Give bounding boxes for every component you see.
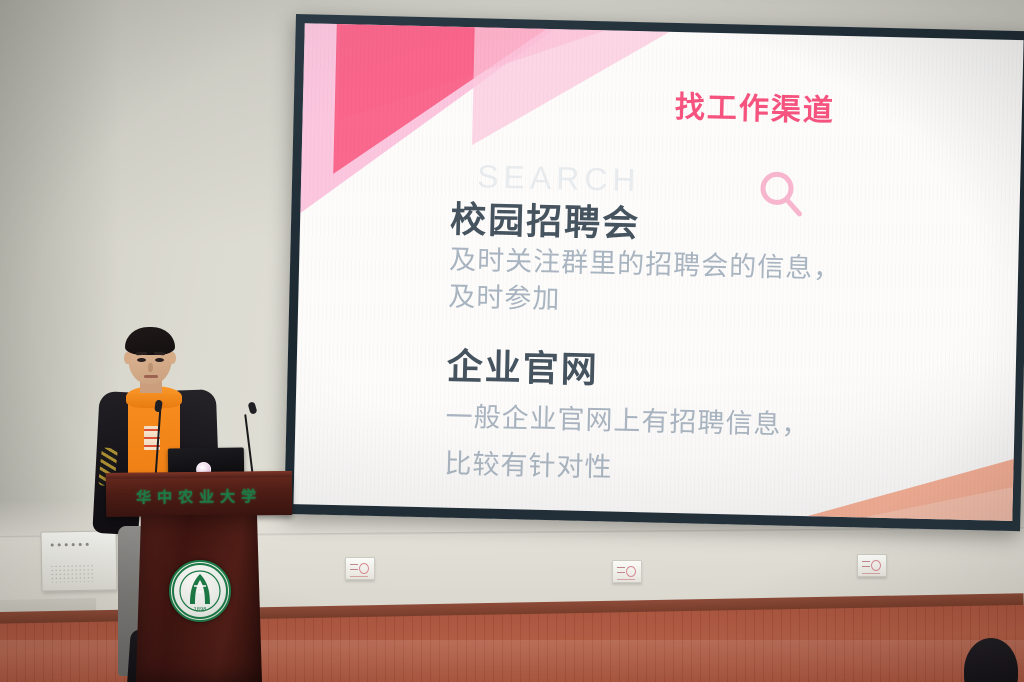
socket-slot-icon [350,564,358,570]
wall-socket-1[interactable] [345,557,375,580]
gooseneck-microphone-right[interactable] [228,400,258,476]
mouth [144,375,158,378]
microphone-capsule-icon [154,400,163,413]
control-panel-vent-grid [50,564,94,583]
podium-top: 华中农业大学 [106,471,292,517]
slide-title: 找工作渠道 [674,82,835,130]
podium: 华中农业大学 1898 [106,472,292,682]
wall-socket-2[interactable] [612,560,642,583]
svg-text:1898: 1898 [194,607,207,613]
microphone-stem [244,414,254,476]
slide-block-2-line-1: 一般企业官网上有招聘信息， [445,400,810,444]
slide-watermark-search: SEARCH [477,158,641,199]
ear-right [169,352,176,364]
socket-round-icon [626,566,636,577]
wall-socket-3[interactable] [857,554,887,577]
slide-block-2-heading: 企业官网 [446,349,811,396]
microphone-capsule-icon [247,401,257,414]
slide-block-1: 校园招聘会 及时关注群里的招聘会的信息， 及时参加 [448,202,843,324]
socket-label-strip [617,579,635,581]
socket-round-icon [871,560,881,571]
slide-block-2-line-2: 比较有针对性 [444,447,809,491]
university-emblem: 1898 [169,560,231,622]
nose [148,363,153,372]
slide-block-1-heading: 校园招聘会 [450,202,843,250]
podium-university-name: 华中农业大学 [114,485,284,508]
socket-round-icon [359,563,369,574]
screen-frame: 找工作渠道 SEARCH 校园招聘会 及时关注群里的招聘会的信息， 及时参加 [284,14,1024,531]
eye-left [137,358,146,362]
control-panel-indicator-dots [51,543,89,547]
lecture-hall-photo: 找工作渠道 SEARCH 校园招聘会 及时关注群里的招聘会的信息， 及时参加 [0,0,1024,682]
projected-slide: 找工作渠道 SEARCH 校园招聘会 及时关注群里的招聘会的信息， 及时参加 [293,23,1023,521]
gooseneck-microphone-left[interactable] [148,398,170,476]
projection-screen: 找工作渠道 SEARCH 校园招聘会 及时关注群里的招聘会的信息， 及时参加 [284,14,1024,543]
slide-block-1-line-2: 及时参加 [448,280,841,324]
socket-label-strip [350,576,368,578]
ear-left [124,352,131,364]
microphone-stem [155,410,162,474]
socket-slot-icon [862,561,870,567]
socket-slot-icon [617,567,625,573]
podium-top-lip [106,471,292,479]
socket-label-strip [862,573,880,575]
eye-right [155,358,164,362]
hair [125,327,175,355]
slide-block-2: 企业官网 一般企业官网上有招聘信息， 比较有针对性 [444,349,811,491]
